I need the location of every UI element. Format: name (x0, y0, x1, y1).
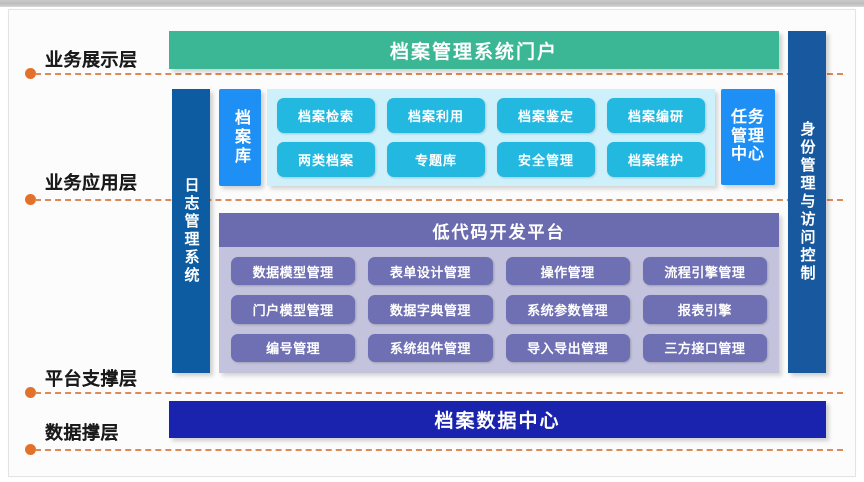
task-management-center-label: 任务 管理 中心 (731, 109, 765, 166)
app-module-topic-library[interactable]: 专题库 (387, 142, 485, 177)
data-center-label: 档案数据中心 (434, 406, 560, 433)
layer-label-platform: 平台支撑层 (45, 365, 138, 391)
diagram-canvas: 业务展示层 业务应用层 平台支撑层 数据撑层 档案管理系统门户 日志管理系统 档… (0, 0, 864, 482)
lowcode-module-operation[interactable]: 操作管理 (506, 257, 630, 285)
archive-repository-box[interactable]: 档案库 (219, 89, 261, 186)
app-module-archive-appraisal[interactable]: 档案鉴定 (497, 98, 595, 133)
app-module-security-mgmt[interactable]: 安全管理 (497, 142, 595, 177)
archive-repository-label: 档案库 (228, 109, 252, 166)
task-center-line-2: 管理 (731, 128, 765, 147)
lowcode-module-form-design[interactable]: 表单设计管理 (368, 257, 492, 285)
separator-line-4 (35, 449, 843, 451)
identity-access-control-label: 身份管理与访问控制 (797, 121, 818, 283)
portal-label: 档案管理系统门户 (390, 37, 558, 64)
data-center-bar[interactable]: 档案数据中心 (169, 401, 826, 438)
layer-label-data: 数据撑层 (45, 419, 119, 445)
task-center-line-3: 中心 (731, 146, 765, 165)
task-center-line-1: 任务 (731, 109, 765, 128)
lowcode-module-portal-model[interactable]: 门户模型管理 (231, 295, 355, 323)
lowcode-module-sys-component[interactable]: 系统组件管理 (368, 334, 492, 362)
lowcode-module-report-engine[interactable]: 报表引擎 (643, 295, 767, 323)
lowcode-platform-panel: 低代码开发平台 数据模型管理 表单设计管理 操作管理 流程引擎管理 门户模型管理… (219, 213, 779, 373)
layer-label-presentation: 业务展示层 (45, 46, 138, 72)
separator-line-1 (35, 73, 843, 75)
lowcode-module-third-party-api[interactable]: 三方接口管理 (643, 334, 767, 362)
lowcode-module-data-dict[interactable]: 数据字典管理 (368, 295, 492, 323)
lowcode-module-grid: 数据模型管理 表单设计管理 操作管理 流程引擎管理 门户模型管理 数据字典管理 … (219, 247, 779, 373)
lowcode-platform-title: 低代码开发平台 (433, 218, 566, 243)
app-module-two-type-archive[interactable]: 两类档案 (277, 142, 375, 177)
lowcode-module-process-engine[interactable]: 流程引擎管理 (643, 257, 767, 285)
identity-access-control-column[interactable]: 身份管理与访问控制 (788, 31, 826, 373)
lowcode-platform-header: 低代码开发平台 (219, 213, 779, 247)
app-module-archive-use[interactable]: 档案利用 (387, 98, 485, 133)
task-management-center-box[interactable]: 任务 管理 中心 (721, 89, 775, 185)
layer-label-application: 业务应用层 (45, 169, 138, 195)
lowcode-module-sys-params[interactable]: 系统参数管理 (506, 295, 630, 323)
separator-line-2 (35, 199, 843, 201)
lowcode-module-numbering[interactable]: 编号管理 (231, 334, 355, 362)
lowcode-module-import-export[interactable]: 导入导出管理 (506, 334, 630, 362)
app-module-archive-research[interactable]: 档案编研 (607, 98, 705, 133)
business-application-panel: 档案检索 档案利用 档案鉴定 档案编研 两类档案 专题库 安全管理 档案维护 (267, 89, 715, 186)
window-top-strip (0, 0, 864, 7)
portal-bar[interactable]: 档案管理系统门户 (169, 31, 779, 69)
app-module-archive-search[interactable]: 档案检索 (277, 98, 375, 133)
lowcode-module-data-model[interactable]: 数据模型管理 (231, 257, 355, 285)
app-module-archive-maint[interactable]: 档案维护 (607, 142, 705, 177)
separator-line-3 (35, 392, 843, 394)
slide-frame: 业务展示层 业务应用层 平台支撑层 数据撑层 档案管理系统门户 日志管理系统 档… (8, 9, 856, 477)
log-management-label: 日志管理系统 (181, 177, 202, 285)
log-management-column[interactable]: 日志管理系统 (172, 89, 210, 373)
business-application-grid: 档案检索 档案利用 档案鉴定 档案编研 两类档案 专题库 安全管理 档案维护 (277, 98, 705, 177)
